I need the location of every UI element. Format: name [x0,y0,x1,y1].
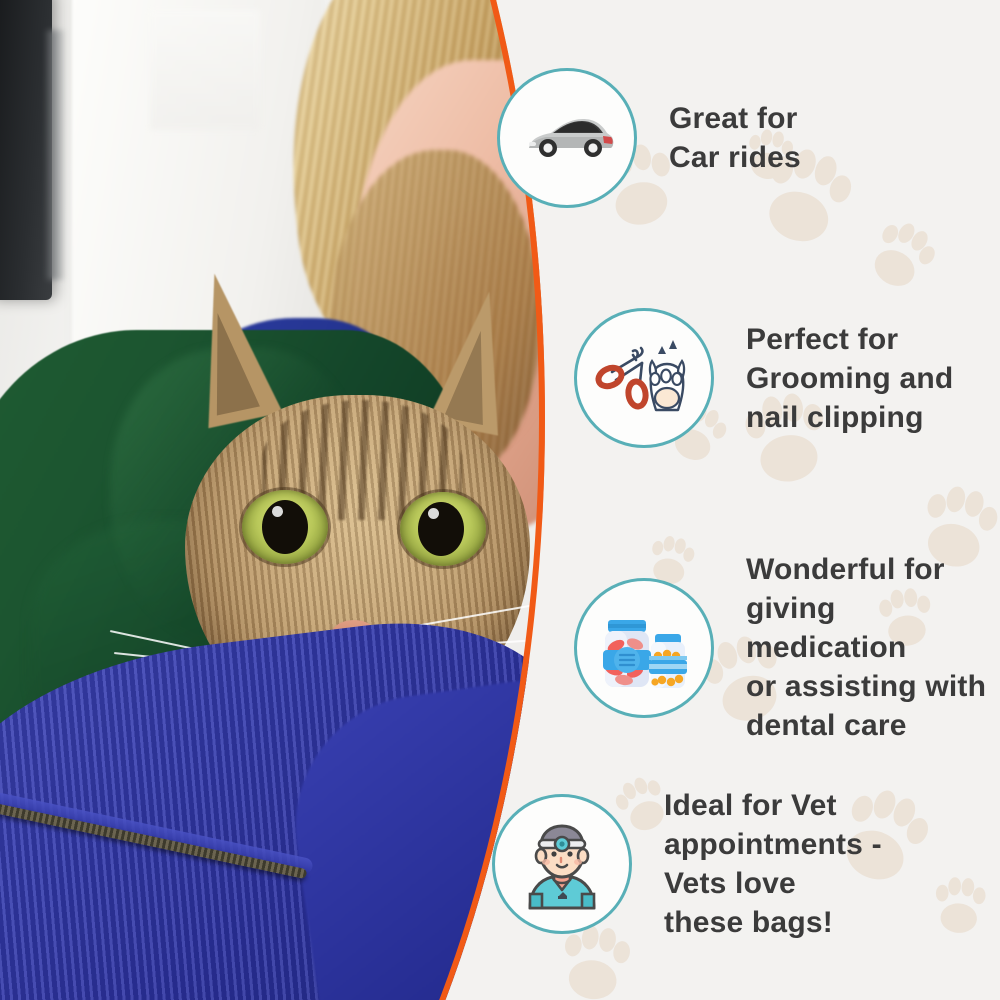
feature-label: Ideal for Vet appointments - Vets love t… [664,786,882,942]
pill-bottles-icon [590,594,698,702]
feature-label: Wonderful for giving medication or assis… [746,550,1000,745]
nail-clipper-paw-icon [590,324,698,432]
feature-item-car-rides: Great for Car rides [497,68,801,208]
feature-item-vet: Ideal for Vet appointments - Vets love t… [492,786,882,942]
feature-label: Perfect for Grooming and nail clipping [746,320,953,437]
feature-icon-circle [497,68,637,208]
photo-cat-pupil-right [418,502,464,556]
photo-monitor [0,0,52,300]
feature-icon-circle [574,578,714,718]
photo-cat-eye-glint-right [428,508,439,519]
infographic-root: Great for Car rides [0,0,1000,1000]
car-icon [515,86,619,190]
veterinarian-icon [510,812,614,916]
feature-item-grooming: Perfect for Grooming and nail clipping [574,308,953,448]
photo-monitor-edge [46,30,64,280]
feature-item-medication: Wonderful for giving medication or assis… [574,550,1000,745]
feature-icon-circle [492,794,632,934]
photo-cat-pupil-left [262,500,308,554]
feature-icon-circle [574,308,714,448]
photo-wall-paper [150,10,260,130]
feature-label: Great for Car rides [669,99,801,177]
photo-cat-eye-glint-left [272,506,283,517]
